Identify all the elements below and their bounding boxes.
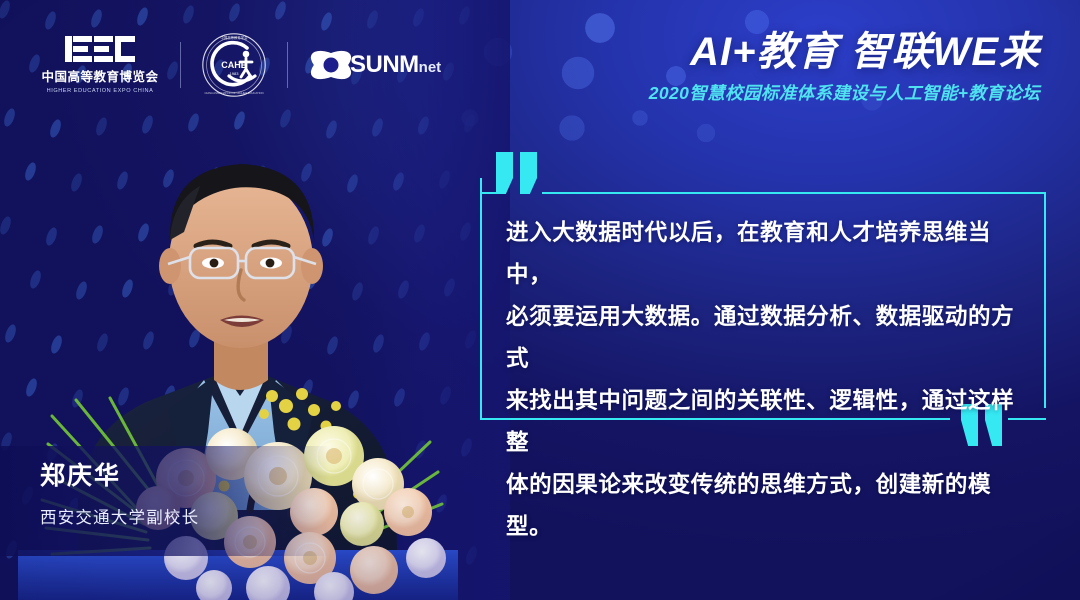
heec-wordmark-icon (65, 36, 135, 62)
quote-border-left (480, 178, 482, 420)
heec-logo-en: HIGHER EDUCATION EXPO CHINA (47, 88, 154, 94)
speaker-role: 西安交通大学副校长 (40, 504, 330, 528)
svg-text:中国高等教育学会: 中国高等教育学会 (220, 35, 248, 40)
sunmnet-wordmark-main: SUNM (350, 51, 419, 78)
sunmnet-glyph-icon (308, 45, 354, 85)
cahe-logo[interactable]: CAHE 1983 中国高等教育学会 CHINA ASSOCIATION OF … (201, 32, 267, 98)
svg-text:CAHE: CAHE (221, 60, 247, 70)
quote-open-mark-icon (496, 152, 537, 194)
title-block: AI+教育 智联WE来 2020智慧校园标准体系建设与人工智能+教育论坛 (570, 30, 1040, 105)
quote-line: 来找出其中问题之间的关联性、逻辑性，通过这样整 (506, 380, 1028, 464)
logo-divider-2 (287, 42, 288, 88)
speaker-nameplate: 郑庆华 西安交通大学副校长 (0, 446, 330, 556)
quote-text: 进入大数据时代以后，在教育和人才培养思维当中，必须要运用大数据。通过数据分析、数… (506, 212, 1028, 548)
quote-border-right (1044, 192, 1046, 408)
quote-border-top (542, 192, 1046, 194)
sunmnet-logo[interactable]: SUNMnet (308, 45, 441, 85)
heec-logo[interactable]: 中国高等教育博览会 HIGHER EDUCATION EXPO CHINA (40, 36, 160, 94)
quote-line: 体的因果论来改变传统的思维方式，创建新的模型。 (506, 464, 1028, 548)
logo-divider-1 (180, 42, 181, 88)
quote-line: 必须要运用大数据。通过数据分析、数据驱动的方式 (506, 296, 1028, 380)
logo-bar: 中国高等教育博览会 HIGHER EDUCATION EXPO CHINA CA… (40, 34, 441, 96)
svg-text:1983: 1983 (230, 71, 240, 76)
heec-logo-cn: 中国高等教育博览会 (41, 66, 158, 85)
sunmnet-wordmark: SUNMnet (350, 51, 441, 79)
event-subtitle: 2020智慧校园标准体系建设与人工智能+教育论坛 (570, 80, 1040, 105)
event-banner: 中国高等教育博览会 HIGHER EDUCATION EXPO CHINA CA… (0, 0, 1080, 600)
quote-card: 进入大数据时代以后，在教育和人才培养思维当中，必须要运用大数据。通过数据分析、数… (480, 178, 1046, 420)
sunmnet-wordmark-suffix: net (419, 59, 442, 76)
quote-line: 进入大数据时代以后，在教育和人才培养思维当中， (506, 212, 1028, 296)
svg-text:CHINA ASSOCIATION OF HIGHER ED: CHINA ASSOCIATION OF HIGHER EDUCATION (204, 91, 263, 95)
speaker-name: 郑庆华 (40, 456, 330, 492)
event-title: AI+教育 智联WE来 (570, 30, 1040, 74)
cahe-emblem-icon: CAHE 1983 中国高等教育学会 CHINA ASSOCIATION OF … (201, 32, 267, 98)
